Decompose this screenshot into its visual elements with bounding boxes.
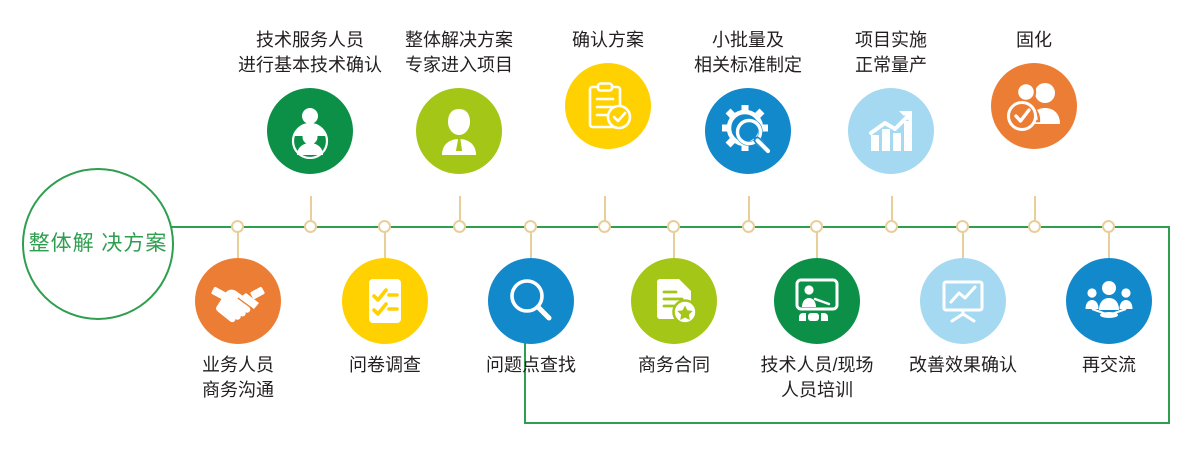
step-top-4-label: 小批量及 相关标准制定 — [694, 28, 802, 78]
person-tie-icon — [416, 88, 502, 174]
team-network-icon — [1066, 258, 1152, 344]
gear-search-icon — [705, 88, 791, 174]
step-top-6-label: 固化 — [1016, 28, 1052, 53]
hub-label: 整体解 决方案 — [29, 229, 168, 259]
step-bottom-3[interactable]: 问题点查找 — [456, 258, 606, 378]
checklist-icon — [342, 258, 428, 344]
handshake-icon — [195, 258, 281, 344]
step-top-6[interactable]: 固化 — [959, 28, 1109, 149]
timeline-dot-3 — [378, 220, 391, 233]
timeline-rail-return — [524, 422, 1170, 424]
bar-chart-up-icon — [848, 88, 934, 174]
step-top-5[interactable]: 项目实施 正常量产 — [816, 28, 966, 174]
step-top-4[interactable]: 小批量及 相关标准制定 — [673, 28, 823, 174]
step-top-5-label: 项目实施 正常量产 — [855, 28, 927, 78]
step-bottom-7-label: 再交流 — [1082, 353, 1136, 378]
step-top-3[interactable]: 确认方案 — [533, 28, 683, 149]
step-bottom-5[interactable]: 技术人员/现场 人员培训 — [742, 258, 892, 403]
timeline-dot-5 — [524, 220, 537, 233]
training-board-icon — [774, 258, 860, 344]
timeline-dot-8 — [742, 220, 755, 233]
timeline-dot-13 — [1102, 220, 1115, 233]
document-star-icon — [631, 258, 717, 344]
timeline-dot-1 — [231, 220, 244, 233]
step-bottom-1[interactable]: 业务人员 商务沟通 — [163, 258, 313, 403]
magnifier-icon — [488, 258, 574, 344]
step-bottom-6-label: 改善效果确认 — [909, 353, 1017, 378]
timeline-dot-4 — [453, 220, 466, 233]
step-bottom-1-label: 业务人员 商务沟通 — [202, 353, 274, 403]
step-bottom-4[interactable]: 商务合同 — [599, 258, 749, 378]
step-top-1-label: 技术服务人员 进行基本技术确认 — [238, 28, 382, 78]
people-check-icon — [991, 63, 1077, 149]
step-bottom-2-label: 问卷调查 — [349, 353, 421, 378]
step-top-2[interactable]: 整体解决方案 专家进入项目 — [384, 28, 534, 174]
timeline-dot-10 — [885, 220, 898, 233]
hub-circle: 整体解 决方案 — [22, 168, 174, 320]
timeline-dot-6 — [598, 220, 611, 233]
step-bottom-5-label: 技术人员/现场 人员培训 — [760, 353, 873, 403]
step-top-2-label: 整体解决方案 专家进入项目 — [405, 28, 513, 78]
step-bottom-4-label: 商务合同 — [638, 353, 710, 378]
step-top-1[interactable]: 技术服务人员 进行基本技术确认 — [235, 28, 385, 174]
timeline-dot-9 — [810, 220, 823, 233]
step-top-3-label: 确认方案 — [572, 28, 644, 53]
presentation-chart-icon — [920, 258, 1006, 344]
two-people-icon — [267, 88, 353, 174]
step-bottom-6[interactable]: 改善效果确认 — [888, 258, 1038, 378]
timeline-dot-2 — [304, 220, 317, 233]
timeline-dot-11 — [956, 220, 969, 233]
clipboard-check-icon — [565, 63, 651, 149]
timeline-dot-12 — [1028, 220, 1041, 233]
step-bottom-3-label: 问题点查找 — [486, 353, 576, 378]
diagram-canvas: 整体解 决方案 技术服务人员 进行基本技术确认 — [0, 0, 1200, 465]
step-bottom-2[interactable]: 问卷调查 — [310, 258, 460, 378]
step-bottom-7[interactable]: 再交流 — [1034, 258, 1184, 378]
timeline-dot-7 — [667, 220, 680, 233]
